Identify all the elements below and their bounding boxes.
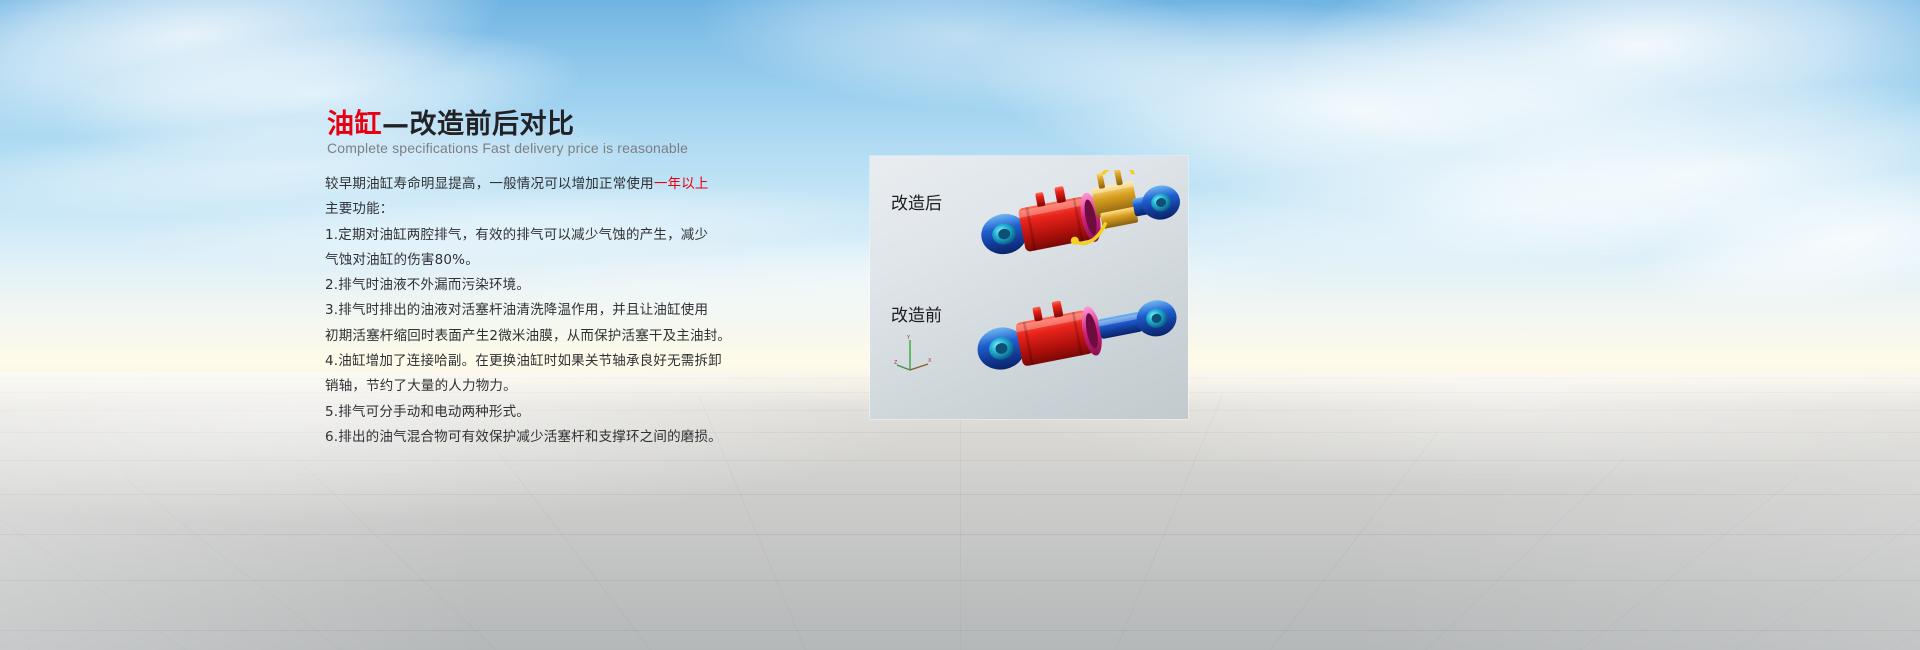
feature-line-text: 6.排出的油气混合物可有效保护减少活塞杆和支撑环之间的磨损。 [325, 429, 722, 445]
feature-line: 主要功能： [325, 197, 795, 222]
feature-description-list: 较早期油缸寿命明显提高，一般情况可以增加正常使用一年以上主要功能：1.定期对油缸… [325, 172, 795, 450]
feature-line: 初期活塞杆缩回时表面产生2微米油膜，从而保护活塞干及主油封。 [325, 324, 795, 349]
label-after-modification: 改造后 [891, 189, 942, 214]
feature-line-text: 2.排气时油液不外漏而污染环境。 [325, 277, 530, 293]
hydraulic-cylinder-before-image [974, 278, 1180, 410]
feature-line-text: 主要功能： [325, 201, 394, 217]
feature-line-text: 3.排气时排出的油液对活塞杆油清洗降温作用，并且让油缸使用 [325, 302, 708, 318]
feature-line: 较早期油缸寿命明显提高，一般情况可以增加正常使用一年以上 [325, 172, 795, 197]
feature-line: 4.油缸增加了连接哈副。在更换油缸时如果关节轴承良好无需拆卸 [325, 349, 795, 374]
feature-line-text: 5.排气可分手动和电动两种形式。 [325, 404, 530, 420]
page-title: 油缸—改造前后对比 [327, 108, 575, 142]
coordinate-axis-icon: Y X Z [894, 334, 934, 374]
page-title-rest: —改造前后对比 [382, 109, 575, 140]
banner-stage: 油缸—改造前后对比 Complete specifications Fast d… [0, 0, 1920, 650]
page-title-accent: 油缸 [327, 109, 382, 140]
feature-line-text: 较早期油缸寿命明显提高，一般情况可以增加正常使用 [325, 176, 654, 192]
feature-line: 2.排气时油液不外漏而污染环境。 [325, 273, 795, 298]
svg-text:Z: Z [894, 360, 898, 366]
feature-line: 1.定期对油缸两腔排气，有效的排气可以减少气蚀的产生，减少 [325, 223, 795, 248]
feature-line-text: 1.定期对油缸两腔排气，有效的排气可以减少气蚀的产生，减少 [325, 227, 708, 243]
feature-line-text: 4.油缸增加了连接哈副。在更换油缸时如果关节轴承良好无需拆卸 [325, 353, 722, 369]
feature-line: 5.排气可分手动和电动两种形式。 [325, 400, 795, 425]
banner-content: 油缸—改造前后对比 Complete specifications Fast d… [0, 0, 1920, 650]
product-comparison-panel: 改造后 改造前 Y X Z [870, 156, 1188, 419]
feature-line: 3.排气时排出的油液对活塞杆油清洗降温作用，并且让油缸使用 [325, 298, 795, 323]
hydraulic-cylinder-after-image [974, 170, 1180, 282]
feature-line: 6.排出的油气混合物可有效保护减少活塞杆和支撑环之间的磨损。 [325, 425, 795, 450]
feature-line-highlight: 一年以上 [654, 176, 709, 192]
feature-line: 气蚀对油缸的伤害80%。 [325, 248, 795, 273]
feature-line-text: 气蚀对油缸的伤害80%。 [325, 252, 479, 268]
feature-line-text: 销轴，节约了大量的人力物力。 [325, 378, 517, 394]
label-before-modification: 改造前 [891, 301, 942, 326]
feature-line-text: 初期活塞杆缩回时表面产生2微米油膜，从而保护活塞干及主油封。 [325, 328, 731, 344]
svg-text:X: X [928, 358, 932, 364]
page-subtitle: Complete specifications Fast delivery pr… [327, 140, 688, 156]
feature-line: 销轴，节约了大量的人力物力。 [325, 374, 795, 399]
